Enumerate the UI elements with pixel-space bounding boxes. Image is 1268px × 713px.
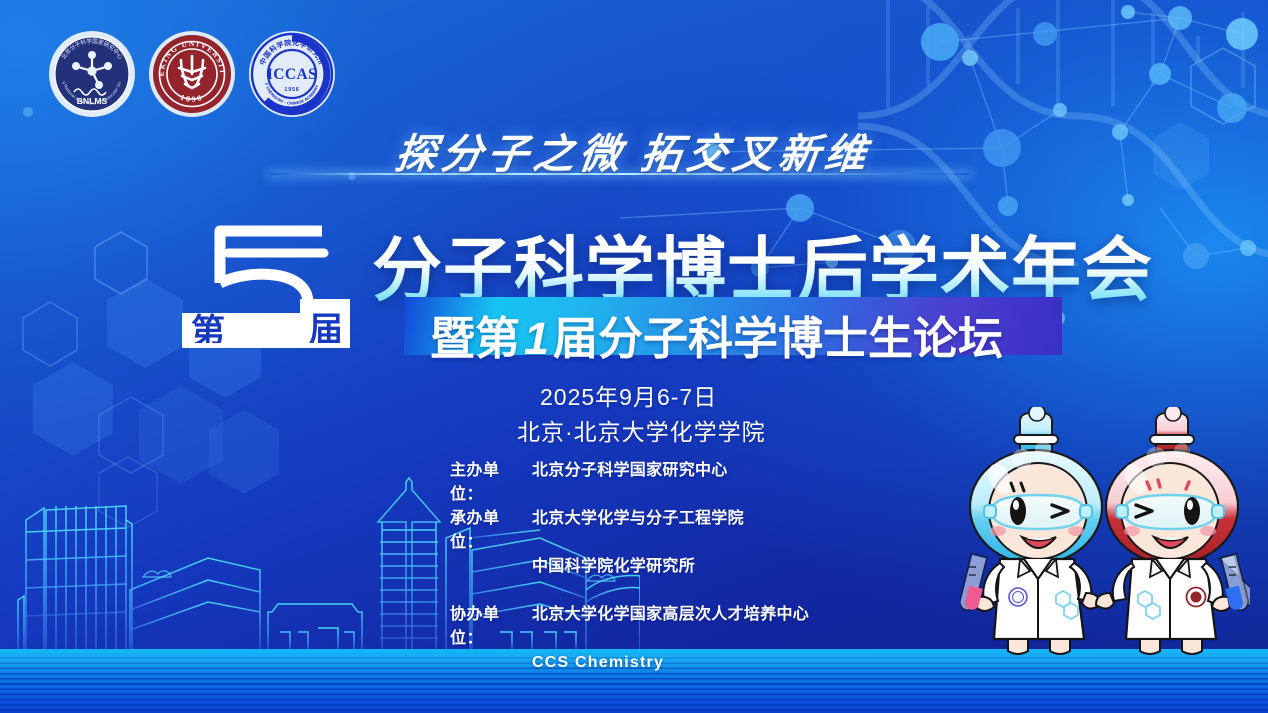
organizer-label: 承办单位： xyxy=(450,507,532,555)
iccas-logo: ICCAS 1956 中国科学院化学研究所 INSTITUTE OF CHEMI… xyxy=(248,30,336,118)
subtitle: 暨第1届分子科学博士生论坛 xyxy=(430,302,1003,367)
bnlms-logo: BNLMS 北京分子科学国家研究中心 Beijing National Labo… xyxy=(48,30,136,118)
subtitle-suffix: 届分子科学博士生论坛 xyxy=(553,313,1003,364)
organizer-value: CCS Chemistry xyxy=(532,651,664,699)
organizer-row: 协办单位： 北京大学化学国家高层次人才培养中心 xyxy=(450,603,809,651)
organizer-label: 协办单位： xyxy=(450,603,532,651)
peking-university-logo: PEKING UNIVERSITY 1898 xyxy=(148,30,236,118)
svg-text:1956: 1956 xyxy=(284,87,299,93)
organizer-row: 承办单位： 北京大学化学与分子工程学院 xyxy=(450,507,809,555)
organizer-value: 北京大学化学与分子工程学院 xyxy=(532,507,744,555)
organizer-row: 主办单位： CCS Chemistry xyxy=(450,651,809,699)
event-location: 北京·北京大学化学学院 xyxy=(517,413,766,447)
mascot-pink-flask xyxy=(1096,407,1250,654)
edition-badge: 第 届 xyxy=(176,217,368,357)
conference-poster: BNLMS 北京分子科学国家研究中心 Beijing National Labo… xyxy=(0,0,1268,713)
organizer-row: 主办单位： 北京分子科学国家研究中心 xyxy=(450,459,809,507)
subtitle-prefix: 暨第 xyxy=(430,313,520,364)
mascot-pair xyxy=(960,407,1250,655)
organizer-list: 主办单位： 北京分子科学国家研究中心 承办单位： 北京大学化学与分子工程学院 主… xyxy=(450,459,809,699)
organizer-label: 主办单位： xyxy=(450,459,532,507)
subtitle-number: 1 xyxy=(520,313,553,364)
svg-text:ICCAS: ICCAS xyxy=(267,66,317,83)
poster-tagline: 探分子之微 拓交叉新维 xyxy=(392,120,875,180)
event-date: 2025年9月6-7日 xyxy=(540,378,717,412)
mascot-blue-flask xyxy=(960,407,1102,654)
organizer-row: 主办单位： 中国科学院化学研究所 xyxy=(450,555,809,603)
organizer-value: 北京分子科学国家研究中心 xyxy=(532,459,728,507)
logo-group: BNLMS 北京分子科学国家研究中心 Beijing National Labo… xyxy=(48,30,336,118)
organizer-value: 北京大学化学国家高层次人才培养中心 xyxy=(532,603,809,651)
organizer-value: 中国科学院化学研究所 xyxy=(532,555,695,603)
